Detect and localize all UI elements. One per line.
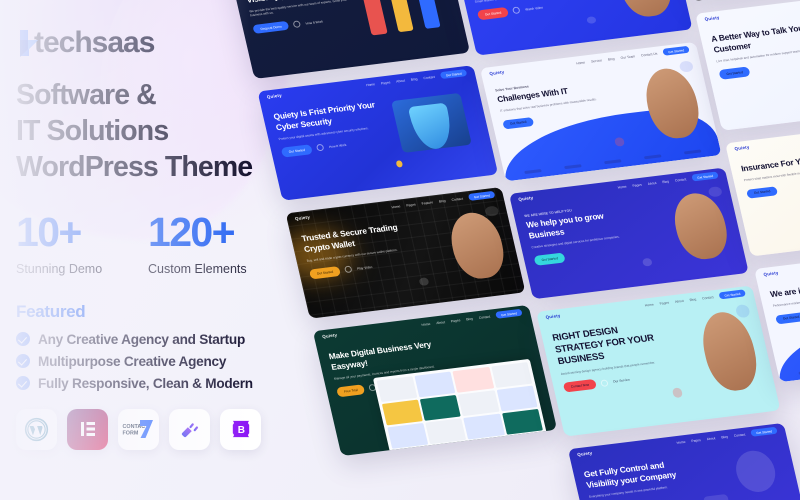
stats-row: 10+ Stunning Demo 120+ Custom Elements: [16, 212, 300, 276]
dashboard-cell: [464, 413, 505, 439]
thumbnail-cta-button: Get Started: [440, 69, 467, 79]
list-item: Any Creative Agency and Startup: [16, 332, 300, 347]
thumbnail-secondary-button: Watch Video: [525, 5, 544, 11]
thumbnail-cta-button: Get Started: [691, 171, 718, 181]
thumbnail-cta-button: Get Started: [495, 309, 522, 319]
thumbnail-nav-item: Contact: [423, 74, 435, 79]
list-item: Multipurpose Creative Agency: [16, 354, 300, 369]
headline-line-2: IT Solutions: [16, 114, 300, 150]
thumbnail-nav-item: Contact: [733, 432, 745, 437]
thumbnail-nav-item: About: [647, 181, 657, 186]
thumbnail-nav-item: Pages: [659, 300, 669, 305]
thumbnail-logo: Quiety: [734, 145, 750, 152]
thumbnail-primary-button: Get Started: [309, 266, 341, 279]
dashboard-cell: [387, 423, 428, 449]
compatibility-badges: CONTACT FORM B: [16, 409, 300, 450]
stat-custom-elements: 120+ Custom Elements: [148, 212, 247, 276]
dashboard-cell: [502, 409, 543, 435]
man-money-photo: [404, 203, 516, 290]
thumbnail-cta-button: Get Started: [750, 427, 777, 437]
thumbnail-primary-button: Get Started: [534, 253, 566, 266]
thumbnail-logo: Quiety: [322, 332, 338, 339]
man-pointing-photo: [598, 58, 712, 151]
dashboard-cell: [458, 390, 499, 416]
team-illustration: [346, 0, 460, 48]
demo-thumbnail[interactable]: QuietyHomePagesAboutBlogContactGet Start…: [568, 423, 800, 500]
thumbnail-nav-item: Service: [591, 58, 603, 63]
headline-line-3: WordPress Theme: [16, 150, 300, 186]
dashboard-cell: [496, 385, 537, 411]
demo-thumbnail[interactable]: QuietyHomePagesFeatureBlogContactGet Sta…: [286, 187, 526, 319]
demo-thumbnail[interactable]: QuietyHomePagesGamesBlogContactGet Start…: [667, 0, 800, 1]
play-icon: [512, 7, 521, 15]
thumbnail-primary-button: Get Started: [477, 7, 509, 20]
thumbnail-nav-item: Our Team: [620, 54, 635, 60]
thumbnail-nav-item: Home: [576, 60, 586, 65]
thumbnail-logo: Quiety: [704, 15, 720, 22]
thumbnail-primary-button: Get Started: [502, 117, 534, 130]
thumbnail-nav-item: Contact: [702, 295, 714, 300]
thumbnail-cta-button: Get Started: [468, 191, 495, 201]
thumbnail-primary-button: Get Started: [719, 67, 751, 80]
thumbnail-hero: Insurance For YouProtect what matters mo…: [725, 117, 800, 219]
thumbnail-nav-item: Home: [617, 184, 627, 189]
thumbnail-nav-item: Home: [644, 302, 654, 307]
featured-heading: Featured: [16, 302, 300, 322]
dashboard-cell: [376, 376, 417, 402]
check-circle-icon: [16, 354, 30, 368]
man-laptop-photo: [627, 184, 739, 271]
feature-label: Any Creative Agency and Startup: [38, 332, 245, 347]
headline-line-1: Software &: [16, 78, 300, 114]
grid-overlay: [667, 0, 800, 1]
thumbnail-nav-item: Pages: [380, 80, 390, 85]
brand-logo[interactable]: techsaas: [16, 26, 300, 60]
featured-list: Any Creative Agency and Startup Multipur…: [16, 332, 300, 391]
thumbnail-nav-item: Blog: [689, 297, 696, 302]
check-circle-icon: [16, 332, 30, 346]
thumbnail-nav-item: Contact: [478, 314, 490, 319]
elementor-icon: [79, 420, 97, 438]
techsaas-t-logo-icon: [16, 28, 42, 58]
thumbnail-logo: Quiety: [577, 450, 593, 457]
thumbnail-nav-item: About: [706, 436, 716, 441]
feature-label: Fully Responsive, Clean & Modern: [38, 376, 253, 391]
shield-illustration: [376, 81, 489, 171]
brand-name: techsaas: [34, 28, 154, 58]
thumbnail-nav-item: About: [396, 78, 406, 83]
man-red-shirt-photo: [655, 302, 771, 403]
contact-form-7-badge[interactable]: CONTACT FORM: [118, 409, 159, 450]
dashboard-cell: [420, 395, 461, 421]
svg-text:FORM: FORM: [122, 431, 138, 437]
thumbnail-logo: Quiety: [545, 313, 561, 320]
thumbnail-secondary-button: Our Service: [613, 378, 631, 384]
bootstrap-badge[interactable]: B: [220, 409, 261, 450]
dashboard-cell: [414, 371, 455, 397]
thumbnail-nav-item: About: [436, 320, 446, 325]
thumbnail-nav-item: About: [674, 298, 684, 303]
dashboard-cell: [491, 362, 532, 388]
thumbnail-primary-button: Free Trial: [336, 385, 365, 397]
thumbnail-nav-item: Home: [391, 204, 401, 209]
thumbnail-logo: Quiety: [489, 69, 505, 76]
stat-number: 120+: [148, 212, 247, 253]
stat-label: Custom Elements: [148, 262, 247, 276]
thumbnail-nav-item: Home: [366, 82, 376, 87]
check-circle-icon: [16, 376, 30, 390]
thumbnail-nav-item: Contact: [674, 177, 686, 182]
feature-label: Multipurpose Creative Agency: [38, 354, 226, 369]
thumbnail-primary-button: Get Started: [746, 186, 778, 199]
thumbnail-nav-item: Blog: [608, 56, 615, 61]
play-icon: [344, 266, 353, 274]
thumbnail-nav-item: Blog: [466, 316, 473, 321]
thumbnail-nav-item: Pages: [450, 318, 460, 323]
dashboard-cell: [453, 367, 494, 393]
stat-stunning-demo: 10+ Stunning Demo: [16, 212, 126, 276]
contact-form-7-icon: CONTACT FORM: [122, 418, 156, 440]
thumbnail-primary-button: Contact Now: [563, 379, 597, 392]
demo-thumbnail[interactable]: QuietyHomeAboutPagesBlogContactGet Start…: [313, 305, 557, 456]
wordpress-badge[interactable]: [16, 409, 57, 450]
thumbnail-nav-item: Contact: [451, 196, 463, 201]
wp-plugin-badge[interactable]: [169, 409, 210, 450]
3d-illustration: [686, 439, 798, 500]
play-icon: [600, 379, 609, 387]
thumbnail-nav-item: Home: [421, 321, 431, 326]
list-item: Fully Responsive, Clean & Modern: [16, 376, 300, 391]
plug-icon: [179, 418, 201, 440]
thumbnail-nav-item: Blog: [410, 77, 417, 82]
thumbnail-nav-item: Blog: [662, 179, 669, 184]
thumbnail-cta-button: Get Started: [662, 46, 689, 56]
thumbnail-nav-item: Pages: [406, 202, 416, 207]
thumbnail-secondary-button: How It Work: [329, 143, 347, 149]
thumbnail-nav-item: Blog: [721, 434, 728, 439]
demo-thumbnail[interactable]: QuietyHomePagesAboutBlogContactGet Start…: [536, 285, 780, 436]
thumbnail-secondary-button: Play Video: [357, 265, 373, 271]
demo-thumbnail[interactable]: QuietyHomePagesAboutBlogContactGet Start…: [509, 168, 749, 300]
bootstrap-icon: B: [230, 419, 252, 439]
thumbnail-primary-button: Get Started: [775, 312, 800, 325]
thumbnail-secondary-button: How It Work: [305, 19, 323, 25]
thumbnail-logo: Quiety: [763, 270, 779, 277]
stat-number: 10+: [16, 212, 126, 253]
thumbnail-nav-item: Pages: [632, 182, 642, 187]
thumbnail-logo: Quiety: [518, 195, 534, 202]
dashboard-cell: [381, 399, 422, 425]
demo-thumbnail[interactable]: QuietyHomeServiceBlogOur TeamContact UsG…: [480, 42, 722, 181]
play-icon: [316, 144, 325, 152]
thumbnail-nav-item: Blog: [438, 198, 445, 203]
svg-text:B: B: [237, 425, 244, 436]
thumbnail-nav-item: Feature: [421, 200, 433, 205]
thumbnail-nav-item: Home: [676, 439, 686, 444]
dashboard-cell: [425, 418, 466, 444]
page-title: Software & IT Solutions WordPress Theme: [16, 78, 300, 186]
thumbnail-nav-item: Contact Us: [640, 51, 657, 57]
thumbnail-cta-button: Get Started: [719, 289, 746, 299]
promo-panel: techsaas Software & IT Solutions WordPre…: [0, 0, 300, 500]
thumbnail-nav-item: Pages: [691, 438, 701, 443]
stat-label: Stunning Demo: [16, 262, 126, 276]
man-card-photo: [572, 0, 684, 29]
elementor-badge[interactable]: [67, 409, 108, 450]
wordpress-icon: [24, 417, 49, 442]
